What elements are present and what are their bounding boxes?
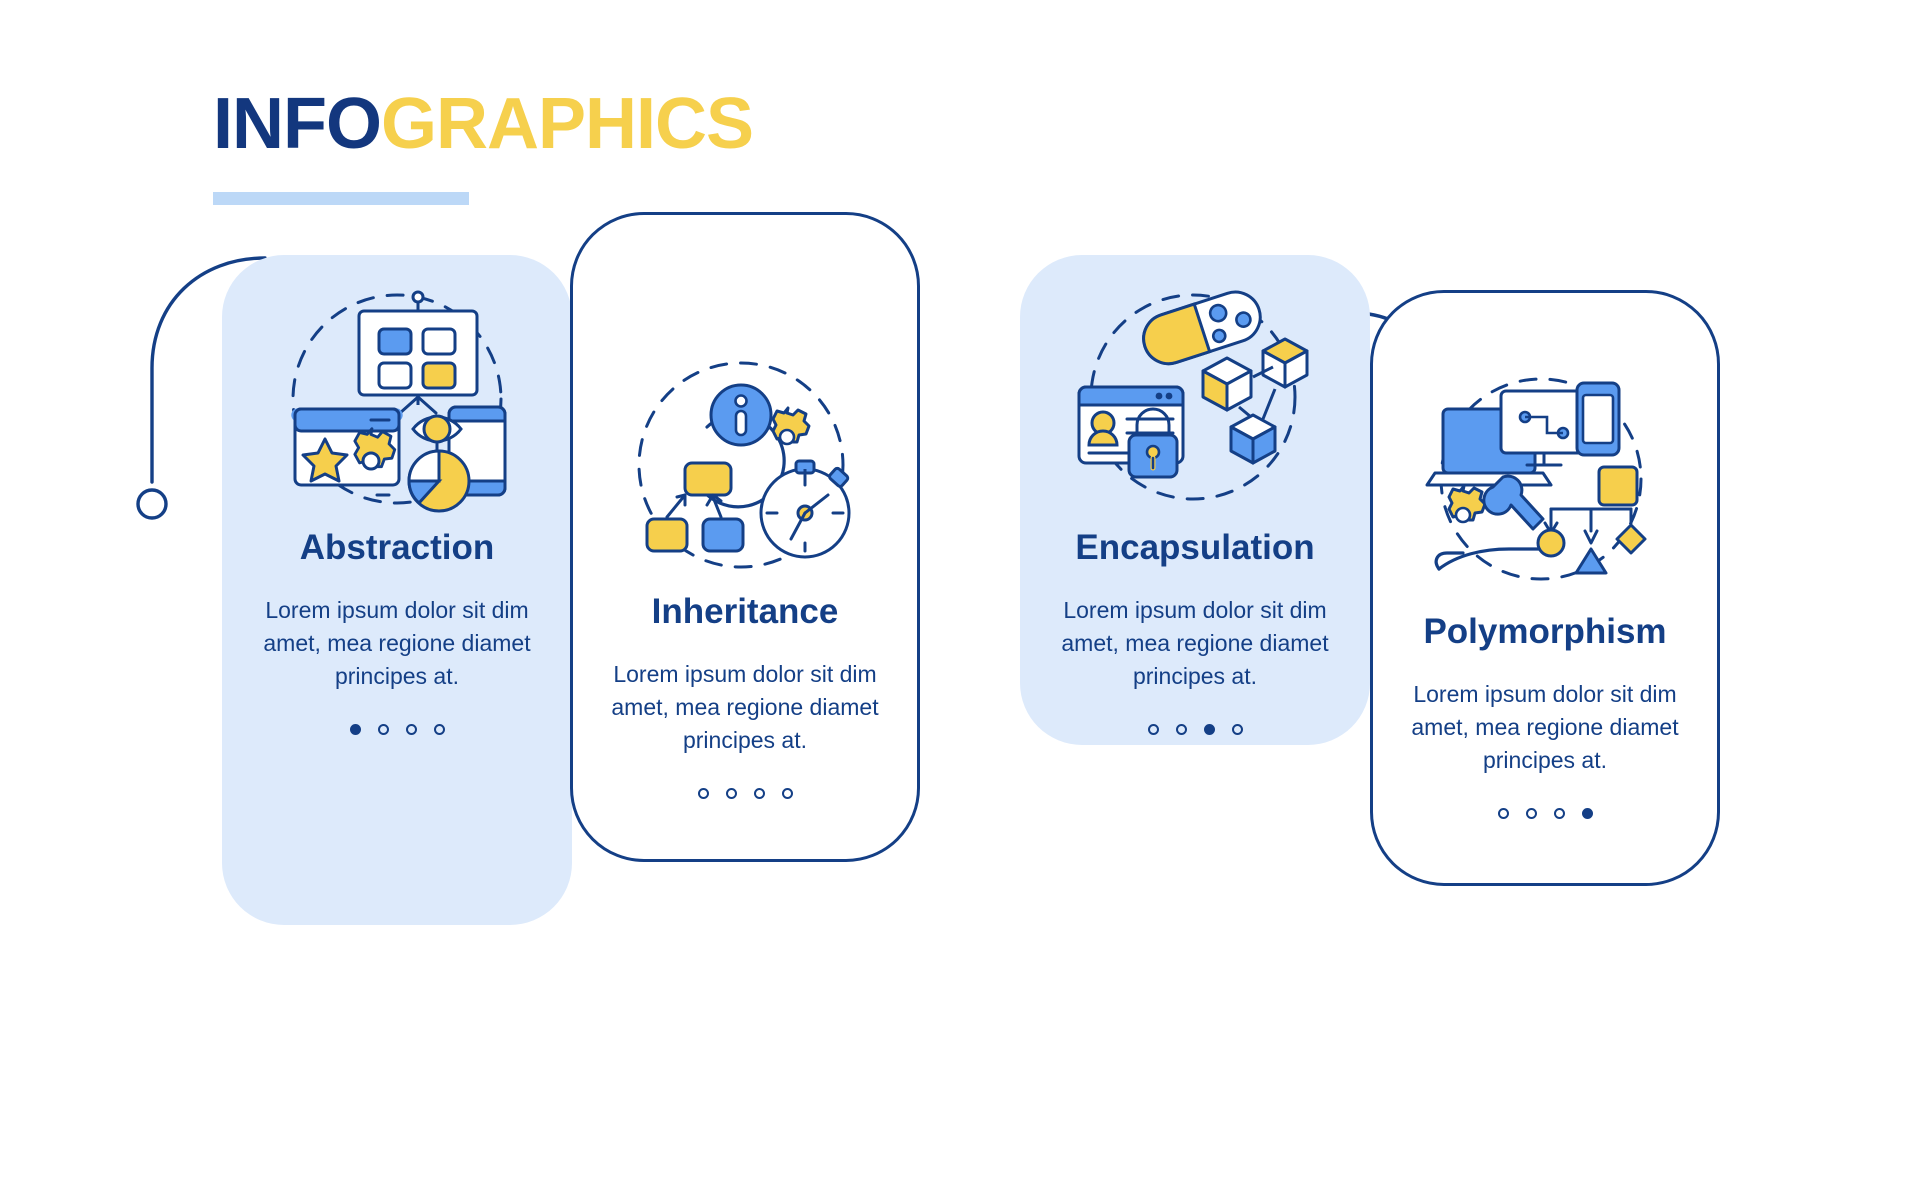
card-title-encapsulation: Encapsulation [1075, 529, 1314, 568]
card-encapsulation[interactable]: Encapsulation Lorem ipsum dolor sit dim … [1020, 255, 1370, 745]
dot-3[interactable] [754, 788, 765, 799]
card-abstraction[interactable]: Abstraction Lorem ipsum dolor sit dim am… [222, 255, 572, 925]
page-title: INFOGRAPHICS [213, 88, 753, 160]
polymorphism-illustration [1415, 373, 1675, 603]
dot-2[interactable] [726, 788, 737, 799]
card-dots-encapsulation[interactable] [1148, 724, 1243, 735]
card-title-abstraction: Abstraction [300, 529, 494, 568]
card-body-inheritance: Lorem ipsum dolor sit dim amet, mea regi… [595, 658, 895, 758]
dot-4[interactable] [782, 788, 793, 799]
card-body-polymorphism: Lorem ipsum dolor sit dim amet, mea regi… [1395, 678, 1695, 778]
dot-3[interactable] [1204, 724, 1215, 735]
card-inheritance[interactable]: Inheritance Lorem ipsum dolor sit dim am… [570, 212, 920, 862]
card-dots-inheritance[interactable] [698, 788, 793, 799]
encapsulation-illustration [1065, 289, 1325, 519]
dot-4[interactable] [1582, 808, 1593, 819]
dot-2[interactable] [378, 724, 389, 735]
dot-1[interactable] [698, 788, 709, 799]
dot-4[interactable] [1232, 724, 1243, 735]
card-body-encapsulation: Lorem ipsum dolor sit dim amet, mea regi… [1045, 594, 1345, 694]
card-dots-abstraction[interactable] [350, 724, 445, 735]
card-body-abstraction: Lorem ipsum dolor sit dim amet, mea regi… [247, 594, 547, 694]
title-underline [213, 192, 469, 205]
dot-4[interactable] [434, 724, 445, 735]
card-dots-polymorphism[interactable] [1498, 808, 1593, 819]
dot-1[interactable] [1498, 808, 1509, 819]
dot-2[interactable] [1176, 724, 1187, 735]
dot-3[interactable] [406, 724, 417, 735]
abstraction-illustration [267, 289, 527, 519]
dot-2[interactable] [1526, 808, 1537, 819]
card-title-polymorphism: Polymorphism [1423, 613, 1666, 652]
dot-1[interactable] [1148, 724, 1159, 735]
inheritance-illustration [615, 353, 875, 583]
card-title-inheritance: Inheritance [652, 593, 839, 632]
title-part-info: INFO [213, 84, 381, 164]
infographic-canvas: INFOGRAPHICS [0, 0, 1920, 1196]
dot-1[interactable] [350, 724, 361, 735]
title-part-graphics: GRAPHICS [381, 84, 753, 164]
card-polymorphism[interactable]: Polymorphism Lorem ipsum dolor sit dim a… [1370, 290, 1720, 886]
dot-3[interactable] [1554, 808, 1565, 819]
